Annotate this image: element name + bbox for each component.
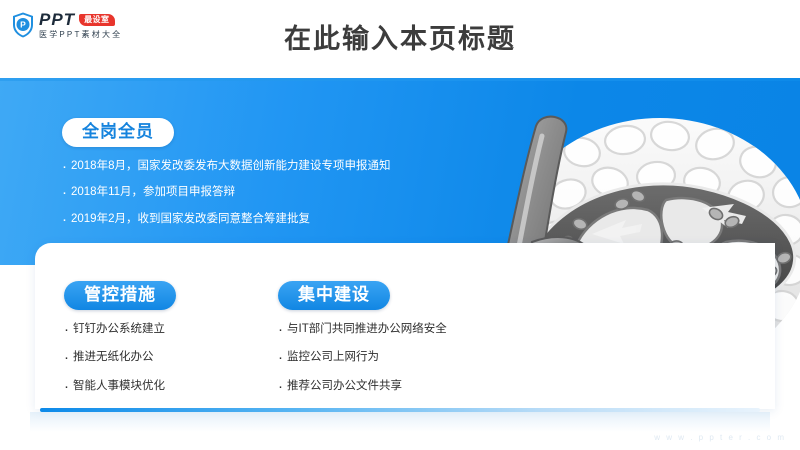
block-left-bullet-list: 钉钉办公系统建立 推进无纸化办公 智能人事模块优化 — [64, 322, 279, 395]
list-item: 与IT部门共同推进办公网络安全 — [278, 322, 518, 338]
block-top-bullet-list: 2018年8月，国家发改委发布大数据创新能力建设专项申报通知 2018年11月，… — [62, 159, 462, 228]
content-block-top: 全岗全员 2018年8月，国家发改委发布大数据创新能力建设专项申报通知 2018… — [62, 118, 462, 238]
list-item: 推荐公司办公文件共享 — [278, 379, 518, 395]
block-left-pill-label[interactable]: 管控措施 — [64, 281, 176, 310]
block-right-pill-label[interactable]: 集中建设 — [278, 281, 390, 310]
list-item: 智能人事模块优化 — [64, 379, 279, 395]
block-top-pill-label[interactable]: 全岗全员 — [62, 118, 174, 147]
site-watermark: w w w . p p t e r . c o m — [654, 433, 786, 442]
list-item: 2018年8月，国家发改委发布大数据创新能力建设专项申报通知 — [62, 159, 462, 175]
list-item: 监控公司上网行为 — [278, 350, 518, 366]
card-bottom-accent-rule — [40, 408, 760, 412]
page-title: 在此输入本页标题 — [0, 17, 800, 56]
list-item: 2019年2月，收到国家发改委同意整合筹建批复 — [62, 212, 462, 228]
banner-top-accent-rule — [0, 78, 800, 81]
slide-root: P PPT 最设室 医学PPT素材大全 在此输入本页标题 — [0, 0, 800, 450]
content-block-left: 管控措施 钉钉办公系统建立 推进无纸化办公 智能人事模块优化 — [64, 281, 279, 407]
list-item: 钉钉办公系统建立 — [64, 322, 279, 338]
list-item: 推进无纸化办公 — [64, 350, 279, 366]
card-shadow-fade — [30, 412, 770, 432]
block-right-bullet-list: 与IT部门共同推进办公网络安全 监控公司上网行为 推荐公司办公文件共享 — [278, 322, 518, 395]
content-block-right: 集中建设 与IT部门共同推进办公网络安全 监控公司上网行为 推荐公司办公文件共享 — [278, 281, 518, 407]
list-item: 2018年11月，参加项目申报答辩 — [62, 185, 462, 201]
